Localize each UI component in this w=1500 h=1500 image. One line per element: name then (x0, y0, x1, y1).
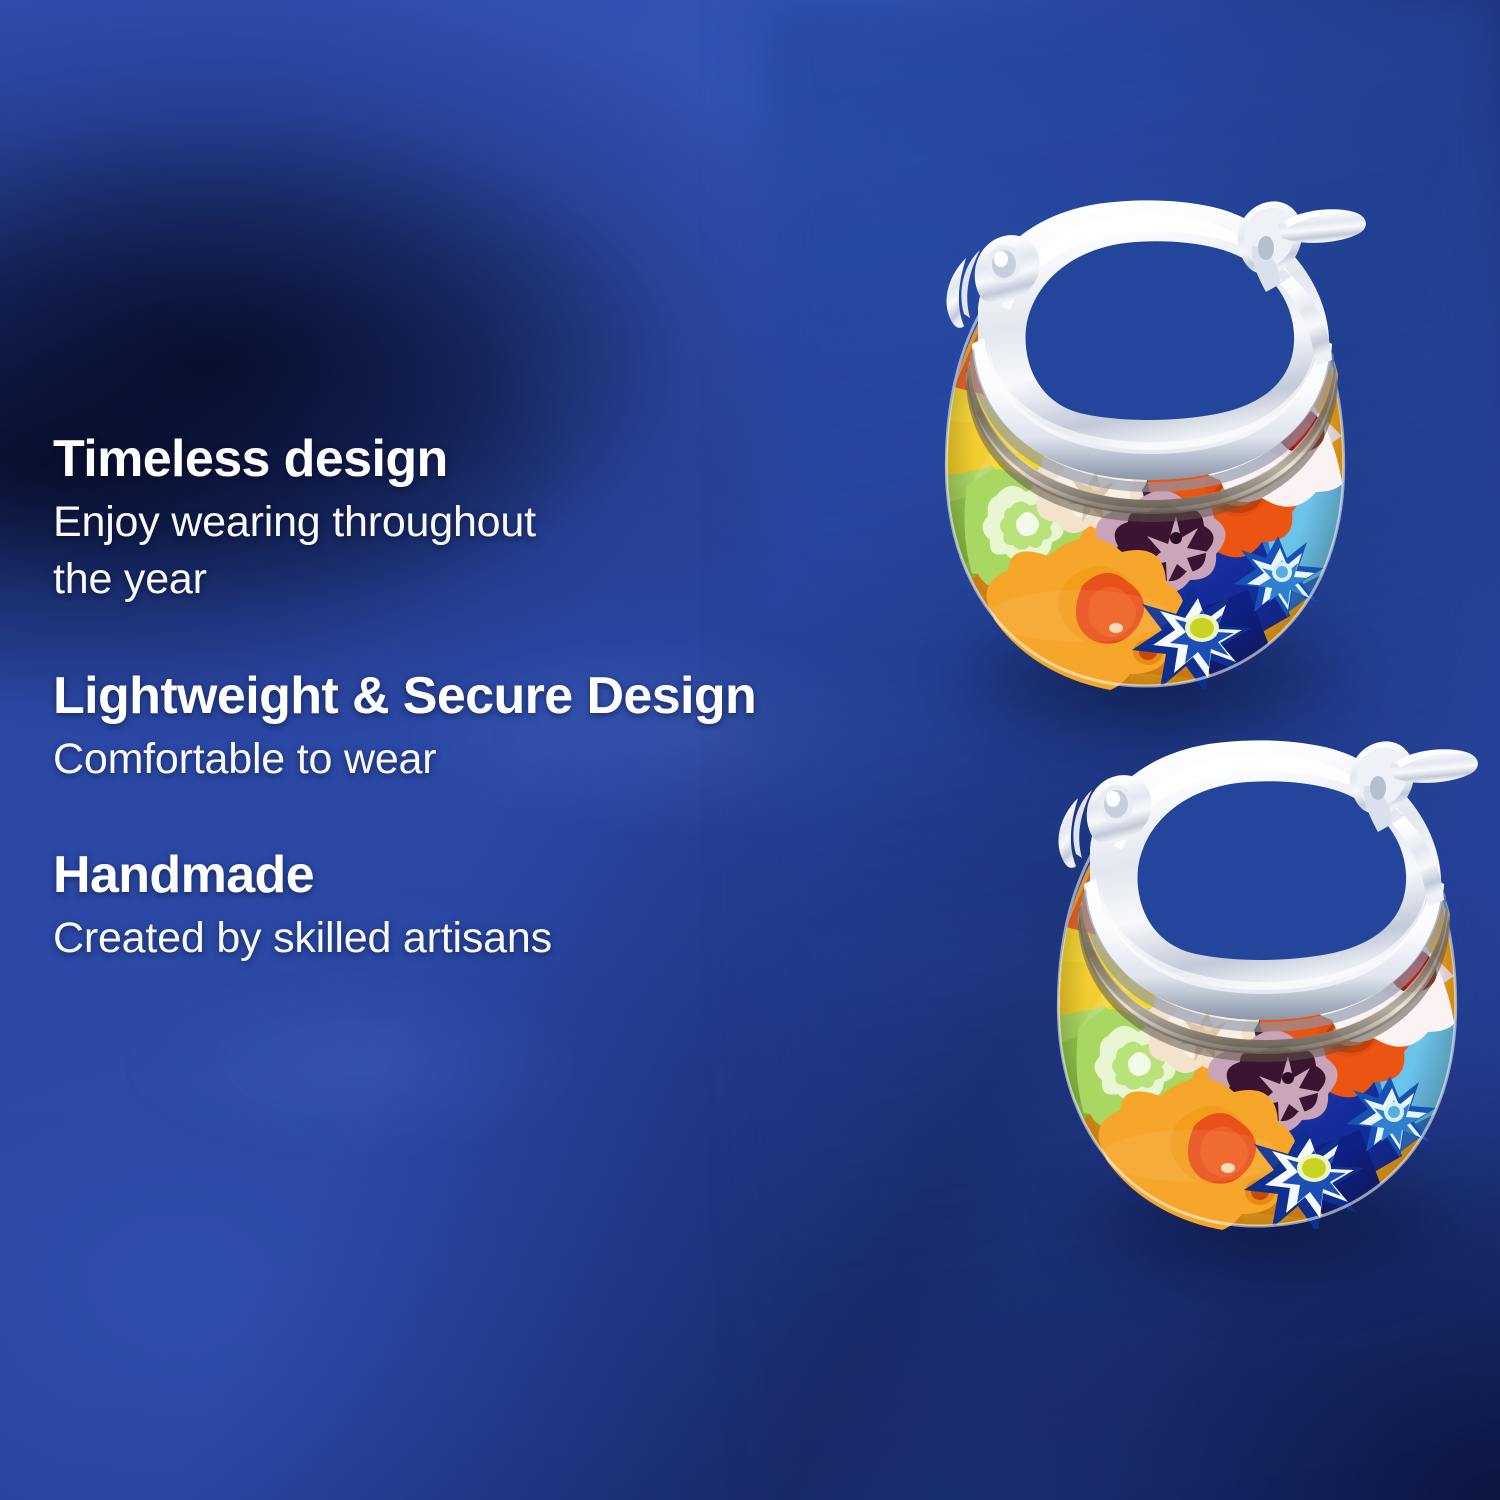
feature-block-lightweight-secure-design: Lightweight & Secure Design Comfortable … (53, 667, 1013, 788)
feature-subtitle-timeless-design-line-1: Enjoy wearing throughout (53, 494, 1013, 551)
product-feature-panel: Timeless design Enjoy wearing throughout… (0, 0, 1500, 1500)
feature-subtitle-handmade: Created by skilled artisans (53, 910, 1013, 967)
feature-title-handmade: Handmade (53, 846, 1013, 904)
feature-subtitle-timeless-design-line-2: the year (53, 551, 1013, 608)
feature-block-timeless-design: Timeless design Enjoy wearing throughout… (53, 430, 1013, 609)
earring-bottom (1042, 706, 1472, 1226)
feature-subtitle-lightweight-secure-design: Comfortable to wear (53, 731, 1013, 788)
feature-title-timeless-design: Timeless design (53, 430, 1013, 488)
feature-list: Timeless design Enjoy wearing throughout… (53, 430, 1013, 967)
feature-title-lightweight-secure-design: Lightweight & Secure Design (53, 667, 1013, 725)
feature-block-handmade: Handmade Created by skilled artisans (53, 846, 1013, 967)
